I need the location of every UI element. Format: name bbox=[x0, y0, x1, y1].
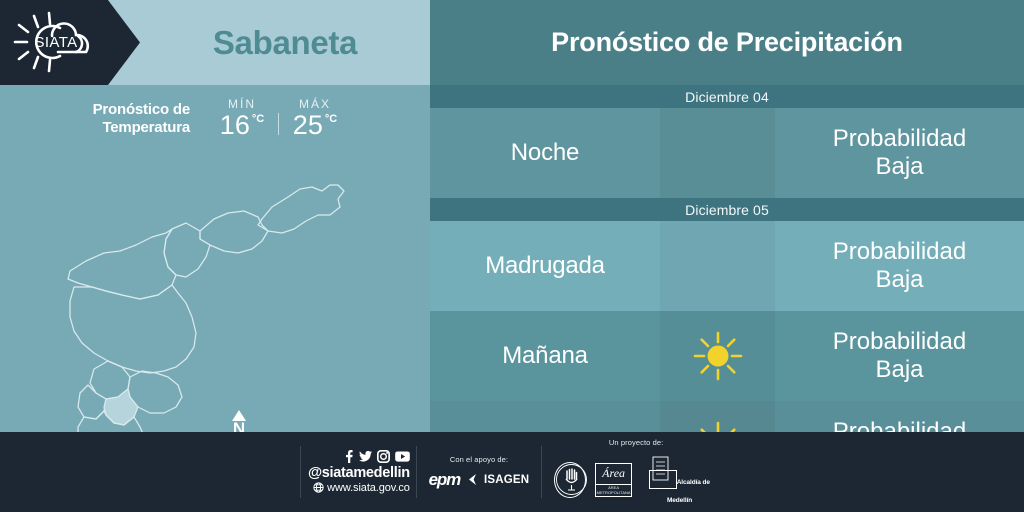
weather-icon-cell bbox=[660, 108, 775, 198]
moon-icon bbox=[696, 242, 740, 290]
probability-line1: Probabilidad bbox=[833, 328, 966, 356]
footer: @siatamedellin www.siata.gov.co Con el a… bbox=[0, 432, 1024, 512]
date-row-2: Diciembre 05 bbox=[430, 198, 1024, 221]
weather-forecast-infographic: SIATA Sabaneta Pronóstico de Precipitaci… bbox=[0, 0, 1024, 512]
twitter-icon[interactable] bbox=[359, 450, 372, 463]
weather-icon-cell bbox=[660, 221, 775, 311]
city-title: Sabaneta bbox=[140, 0, 430, 85]
temp-min-caption: MÍN bbox=[206, 97, 278, 111]
temp-label-line1: Pronóstico de bbox=[40, 101, 190, 119]
logo-text: SIATA bbox=[34, 34, 77, 51]
social-block: @siatamedellin www.siata.gov.co bbox=[301, 450, 416, 494]
facebook-icon[interactable] bbox=[343, 450, 354, 463]
period-label: Madrugada bbox=[430, 221, 660, 311]
temp-label-line2: Temperatura bbox=[40, 119, 190, 137]
period-label: Noche bbox=[430, 108, 660, 198]
social-handle[interactable]: @siatamedellin bbox=[301, 465, 410, 482]
globe-icon bbox=[313, 482, 324, 493]
probability-cell: Probabilidad Baja bbox=[775, 108, 1024, 198]
support-caption: Con el apoyo de: bbox=[429, 455, 530, 464]
temperature-map-panel: Pronóstico de Temperatura MÍN 16 °C MÁX … bbox=[0, 85, 430, 432]
temp-max-caption: MÁX bbox=[279, 97, 351, 111]
hand-seal-icon bbox=[555, 463, 588, 496]
alcaldia-crest-icon bbox=[650, 453, 671, 484]
temp-min-unit: °C bbox=[252, 113, 264, 125]
temp-max-value: 25 bbox=[293, 112, 323, 139]
universidad-seal-logo[interactable] bbox=[554, 462, 586, 498]
sun-cloud-icon: SIATA bbox=[8, 8, 104, 76]
date-row-1: Diciembre 04 bbox=[430, 85, 1024, 108]
isagen-logo[interactable]: ISAGEN bbox=[469, 474, 529, 486]
project-caption: Un proyecto de: bbox=[554, 438, 718, 447]
precipitation-title: Pronóstico de Precipitación bbox=[430, 0, 1024, 85]
isagen-mark-icon bbox=[469, 474, 481, 485]
temperature-values: MÍN 16 °C MÁX 25 °C bbox=[206, 97, 351, 139]
alcaldia-medellin-logo[interactable]: Alcaldía de Medellín bbox=[641, 453, 718, 507]
website-row[interactable]: www.siata.gov.co bbox=[301, 482, 410, 494]
probability-line1: Probabilidad bbox=[833, 238, 966, 266]
area-metropolitana-logo[interactable]: Área ÁREA METROPOLITANA bbox=[595, 463, 632, 497]
temperature-max: MÁX 25 °C bbox=[279, 97, 351, 139]
moon-icon bbox=[696, 129, 740, 177]
probability-line1: Probabilidad bbox=[833, 125, 966, 153]
probability-cell: Probabilidad Baja bbox=[775, 311, 1024, 401]
epm-logo[interactable]: epm bbox=[429, 470, 460, 490]
map-svg bbox=[0, 145, 430, 432]
table-row[interactable]: Mañana Probabili bbox=[430, 311, 1024, 401]
probability-line2: Baja bbox=[875, 266, 923, 294]
period-label: Mañana bbox=[430, 311, 660, 401]
temp-min-value: 16 bbox=[220, 112, 250, 139]
temperature-forecast-label: Pronóstico de Temperatura bbox=[40, 97, 190, 136]
table-row[interactable]: Noche Probabilidad Baja bbox=[430, 108, 1024, 198]
probability-cell: Probabilidad Baja bbox=[775, 221, 1024, 311]
sun-icon bbox=[692, 330, 744, 382]
social-icons bbox=[301, 450, 410, 463]
support-block: Con el apoyo de: epm ISAGEN bbox=[417, 455, 542, 490]
top-header: SIATA Sabaneta Pronóstico de Precipitaci… bbox=[0, 0, 1024, 85]
precipitation-forecast-table: Diciembre 04 Noche Probabilidad Baja Dic… bbox=[430, 85, 1024, 432]
website-text: www.siata.gov.co bbox=[327, 482, 410, 494]
temp-max-unit: °C bbox=[325, 113, 337, 125]
temperature-min: MÍN 16 °C bbox=[206, 97, 278, 139]
probability-line2: Baja bbox=[875, 356, 923, 384]
table-row[interactable]: Madrugada Probabilidad Baja bbox=[430, 221, 1024, 311]
probability-line2: Baja bbox=[875, 153, 923, 181]
youtube-icon[interactable] bbox=[395, 450, 410, 463]
project-block: Un proyecto de: Área ÁREA METRO bbox=[542, 438, 730, 507]
weather-icon-cell bbox=[660, 311, 775, 401]
aburra-valley-map[interactable]: N bbox=[0, 145, 430, 432]
instagram-icon[interactable] bbox=[377, 450, 390, 463]
